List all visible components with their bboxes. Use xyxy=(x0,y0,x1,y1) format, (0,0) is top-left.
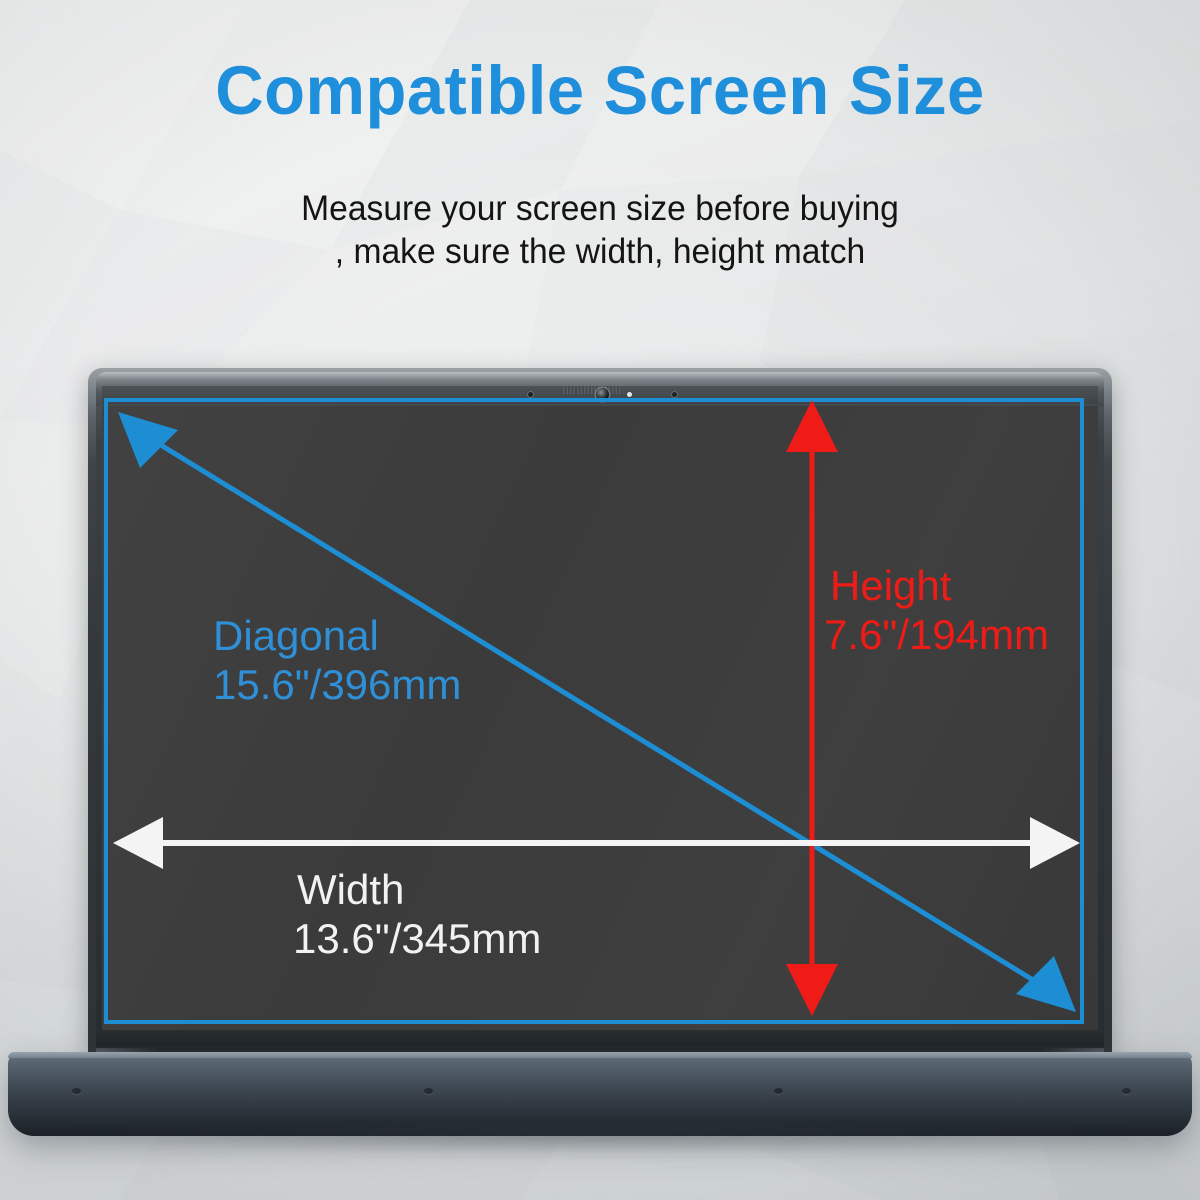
sensor-dot-right xyxy=(672,392,677,397)
height-label-value: 7.6"/194mm xyxy=(824,611,1049,660)
laptop-base-highlight xyxy=(8,1052,1192,1058)
screen-area-outline xyxy=(104,398,1084,1024)
width-label: Width 13.6"/345mm xyxy=(297,866,541,963)
infographic-canvas: Compatible Screen Size Measure your scre… xyxy=(0,0,1200,1200)
diagonal-label-value: 15.6"/396mm xyxy=(213,661,461,710)
base-screw xyxy=(424,1088,433,1094)
laptop-drop-shadow xyxy=(26,1126,1174,1152)
microphone-grill xyxy=(563,386,623,394)
height-label-title: Height xyxy=(830,562,1049,611)
sensor-dot-left xyxy=(528,392,533,397)
width-label-title: Width xyxy=(297,866,541,915)
width-label-value: 13.6"/345mm xyxy=(293,915,541,964)
sensor-dot-center xyxy=(627,392,632,397)
base-screw xyxy=(774,1088,783,1094)
base-screw xyxy=(72,1088,81,1094)
diagonal-label: Diagonal 15.6"/396mm xyxy=(213,612,461,709)
laptop-base xyxy=(8,1052,1192,1136)
base-screw xyxy=(1122,1088,1131,1094)
height-label: Height 7.6"/194mm xyxy=(830,562,1049,659)
diagonal-label-title: Diagonal xyxy=(213,612,461,661)
